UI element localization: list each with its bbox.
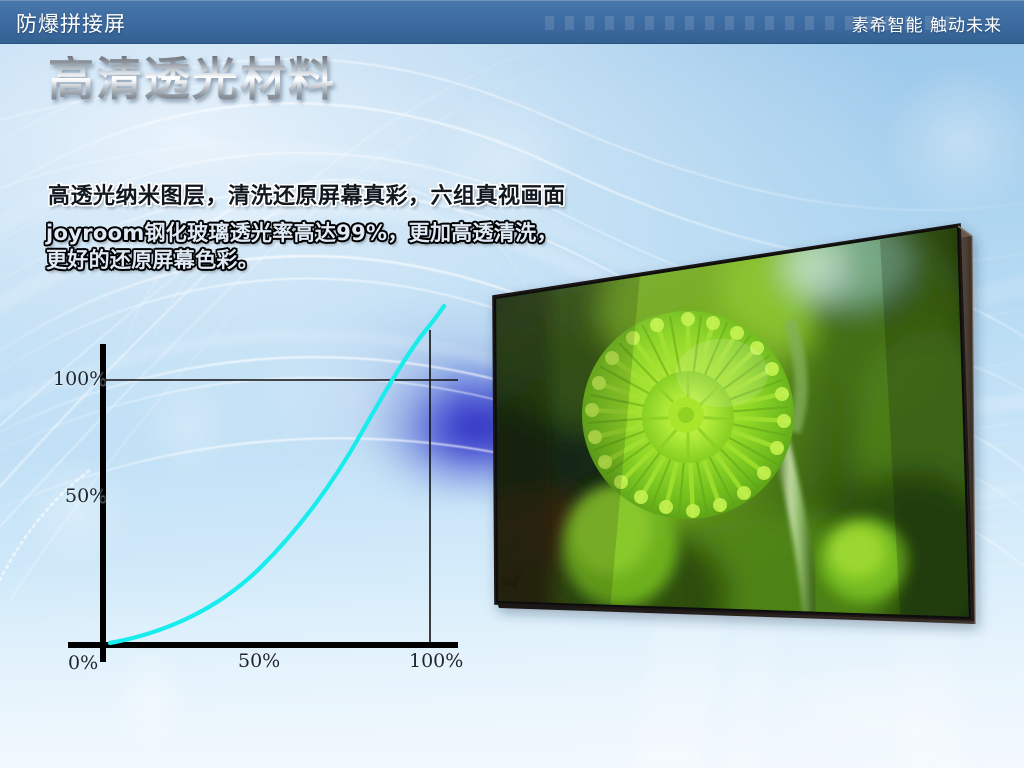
body-copy-line1: joyroom钢化玻璃透光率高达99%，更加高透清洗， bbox=[46, 221, 558, 245]
chart-x-tick-100: 100% bbox=[409, 650, 463, 672]
page-title: 高清透光材料 bbox=[48, 56, 336, 102]
header-dotted-decoration bbox=[545, 16, 965, 30]
chart-x-tick-50: 50% bbox=[238, 650, 280, 672]
chart-series-curve bbox=[110, 306, 444, 643]
header-title: 防爆拼接屏 bbox=[16, 8, 126, 38]
body-copy: joyroom钢化玻璃透光率高达99%，更加高透清洗， 更好的还原屏幕色彩。 bbox=[46, 220, 558, 274]
chart-x-tick-0: 0% bbox=[68, 652, 98, 674]
display-body bbox=[460, 215, 1010, 670]
transmittance-chart: 100% 50% 0% 50% 100% bbox=[0, 0, 520, 768]
chart-y-tick-100: 100% bbox=[53, 368, 107, 390]
chart-y-tick-50: 50% bbox=[65, 485, 107, 507]
display-screen bbox=[460, 215, 1010, 670]
body-copy-line2: 更好的还原屏幕色彩。 bbox=[46, 247, 558, 274]
subtitle-text: 高透光纳米图层，清洗还原屏幕真彩，六组真视画面 bbox=[48, 178, 566, 210]
